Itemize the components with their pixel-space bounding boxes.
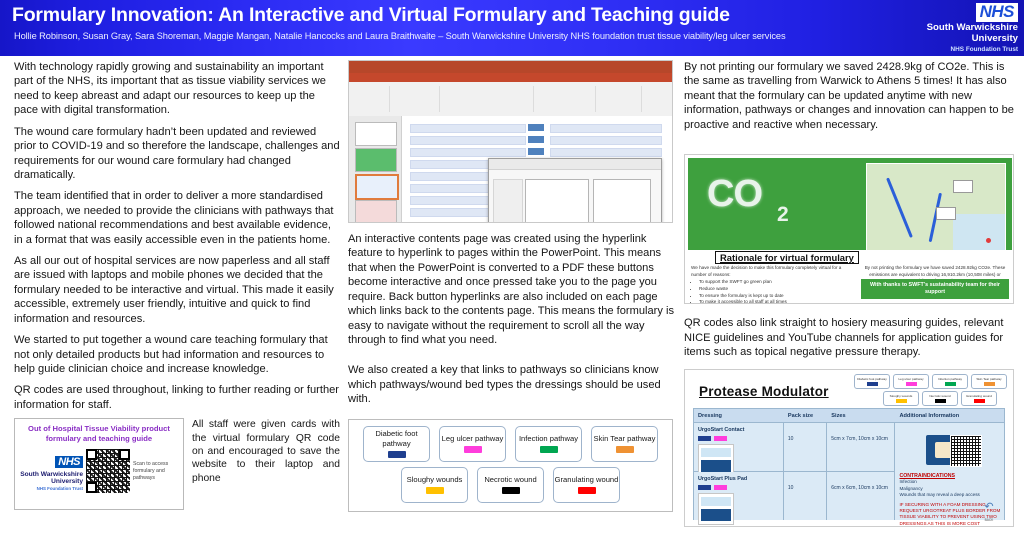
trust-name: South Warwickshire University <box>900 23 1018 44</box>
key-swatch-icon <box>714 485 727 490</box>
table-header-row: Dressing Pack size Sizes Additional Info… <box>694 409 1004 423</box>
rationale-bullet: Reduce waste <box>699 286 851 293</box>
key-item-sloughy[interactable]: Sloughy wounds <box>883 391 919 406</box>
key-label: Leg ulcer pathway <box>442 434 504 443</box>
key-item-granulating[interactable]: Granulating wound <box>553 467 620 503</box>
table-row: UrgoStart Plus Pad <box>694 472 783 521</box>
product-image-band <box>701 460 731 472</box>
rationale-title: Rationale for virtual formulary <box>715 251 859 264</box>
key-swatch-icon <box>714 436 727 441</box>
formulary-qr-card: Out of Hospital Tissue Viability product… <box>14 418 184 510</box>
pathway-key-box: Diabetic foot pathway Leg ulcer pathway … <box>348 419 673 512</box>
ppt-content-row <box>410 148 526 157</box>
pathway-key-row-2: Sloughy wounds Necrotic wound Granulatin… <box>355 467 666 503</box>
key-item-infection[interactable]: Infection pathway <box>932 374 968 389</box>
left-paragraph-1: With technology rapidly growing and sust… <box>14 60 340 118</box>
ppt-slide-thumbnail-pane[interactable] <box>349 116 402 222</box>
dialog-preview-pane <box>593 179 651 223</box>
table-column-additional-info: CONTRAINDICATIONS Infection Malignancy W… <box>895 423 1004 520</box>
trust-subtitle: NHS Foundation Trust <box>19 486 83 491</box>
key-item-necrotic[interactable]: Necrotic wound <box>477 467 544 503</box>
ppt-slide-thumbnail[interactable] <box>355 122 397 146</box>
dressing-pathway-swatches <box>698 436 779 441</box>
left-paragraph-5: We started to put together a wound care … <box>14 333 340 376</box>
key-label: Necrotic wound <box>484 475 536 484</box>
left-paragraph-2: The wound care formulary hadn’t been upd… <box>14 125 340 183</box>
left-paragraph-3: The team identified that in order to del… <box>14 189 340 247</box>
column-header-pack-size: Pack size <box>784 413 827 419</box>
qr-scan-instruction: Scan to access formulary and pathways <box>133 461 175 482</box>
column-header-sizes: Sizes <box>827 413 895 419</box>
key-item-diabetic-foot[interactable]: Diabetic foot pathway <box>363 426 430 462</box>
table-cell-pack-size: 10 <box>784 423 826 472</box>
dressing-name: UrgoStart Contact <box>698 427 779 433</box>
co2-rationale-panel: CO 2 Rationale for virtual formulary We … <box>684 154 1014 304</box>
left-paragraph-6: QR codes are used throughout, linking to… <box>14 383 340 412</box>
key-swatch-icon <box>578 487 596 494</box>
co2-subscript: 2 <box>777 203 789 227</box>
product-image-band <box>701 448 731 457</box>
poster-header: Formulary Innovation: An Interactive and… <box>0 0 1024 56</box>
qr-code-icon[interactable] <box>86 449 130 493</box>
middle-paragraph-2: We also created a key that links to path… <box>348 363 674 406</box>
key-label: Infection pathway <box>938 378 962 381</box>
powerpoint-screenshot <box>348 60 673 223</box>
ppt-slide-canvas <box>402 116 672 222</box>
product-image <box>698 493 734 525</box>
rationale-intro: We have made the decision to make this f… <box>691 265 851 278</box>
middle-column: An interactive contents page was created… <box>348 60 674 512</box>
sizes-value: 5cm x 7cm, 10cm x 10cm <box>831 436 888 442</box>
key-swatch-icon <box>906 382 917 386</box>
ppt-ribbon-group <box>537 86 596 112</box>
pathway-key-row-1: Diabetic foot pathway Leg ulcer pathway … <box>355 426 666 462</box>
key-label: Diabetic foot pathway <box>364 429 429 448</box>
qr-corner-icon <box>86 482 97 493</box>
key-swatch-icon <box>388 451 406 458</box>
ppt-ribbon-group <box>393 86 440 112</box>
nhs-logo: NHS <box>55 456 83 468</box>
key-label: Granulating wound <box>555 475 619 484</box>
key-item-diabetic-foot[interactable]: Diabetic foot pathway <box>854 374 890 389</box>
back-button-label: BACK <box>985 518 994 522</box>
key-swatch-icon <box>540 446 558 453</box>
ppt-content-row <box>410 124 526 133</box>
key-swatch-icon <box>616 446 634 453</box>
qr-card-body: NHS South Warwickshire University NHS Fo… <box>19 449 179 493</box>
key-item-sloughy[interactable]: Sloughy wounds <box>401 467 468 503</box>
key-swatch-icon <box>698 436 711 441</box>
ppt-slide-thumbnail[interactable] <box>355 174 399 200</box>
key-swatch-icon <box>698 485 711 490</box>
column-header-dressing: Dressing <box>694 413 784 419</box>
protease-table-title: Protease Modulator <box>699 384 829 399</box>
sizes-value: 6cm x 6cm, 10cm x 10cm <box>831 485 888 491</box>
key-label: Skin Tear pathway <box>594 434 656 443</box>
key-label: Necrotic wound <box>929 395 950 398</box>
dialog-link-type-list[interactable] <box>493 179 523 223</box>
edit-hyperlink-dialog[interactable] <box>488 158 662 223</box>
ppt-link-chip[interactable] <box>528 136 544 143</box>
key-label: Leg ulcer pathway <box>898 378 923 381</box>
dressing-pathway-swatches <box>698 485 779 490</box>
key-swatch-icon <box>984 382 995 386</box>
ppt-slide-thumbnail[interactable] <box>355 200 397 223</box>
table-row: UrgoStart Contact <box>694 423 783 472</box>
middle-paragraph-1: An interactive contents page was created… <box>348 232 674 347</box>
key-label: Granulating wound <box>966 395 992 398</box>
key-label: Sloughy wounds <box>890 395 913 398</box>
right-paragraph-2: QR codes also link straight to hosiery m… <box>684 316 1014 359</box>
map-callout-card <box>936 207 956 220</box>
map-pin-icon <box>986 238 991 243</box>
qr-card-logo-block: NHS South Warwickshire University NHS Fo… <box>19 452 83 491</box>
key-item-leg-ulcer[interactable]: Leg ulcer pathway <box>893 374 929 389</box>
key-swatch-icon <box>945 382 956 386</box>
key-swatch-icon <box>867 382 878 386</box>
key-swatch-icon <box>426 487 444 494</box>
key-swatch-icon <box>935 399 946 403</box>
additional-info-cell: CONTRAINDICATIONS Infection Malignancy W… <box>895 423 1004 520</box>
contraindication-item: Wounds that may reveal a deep access <box>899 492 1003 498</box>
key-item-necrotic[interactable]: Necrotic wound <box>922 391 958 406</box>
left-paragraph-4: As all our out of hospital services are … <box>14 254 340 326</box>
table-body: UrgoStart Contact UrgoStart Plus <box>694 423 1004 520</box>
back-arrow-icon: ↶ <box>984 501 993 513</box>
product-image-band <box>701 497 731 506</box>
dialog-title-bar <box>489 159 661 170</box>
ppt-link-chip[interactable] <box>528 148 544 155</box>
qr-card-row: Out of Hospital Tissue Viability product… <box>14 418 340 510</box>
column-header-additional-info: Additional Information <box>895 413 1004 419</box>
co2-label: CO <box>707 173 762 216</box>
map-callout-card <box>953 180 973 193</box>
table-column-dressing: UrgoStart Contact UrgoStart Plus <box>694 423 784 520</box>
key-swatch-icon <box>974 399 985 403</box>
nhs-logo-block: NHS South Warwickshire University NHS Fo… <box>900 3 1018 54</box>
protease-pathway-key: Diabetic foot pathway Leg ulcer pathway … <box>847 374 1007 406</box>
key-label: Infection pathway <box>519 434 578 443</box>
ppt-slide-thumbnail[interactable] <box>355 148 397 172</box>
ppt-ribbon-group <box>353 86 390 112</box>
rationale-bullet: To ensure the formulary is kept up to da… <box>699 293 851 300</box>
protease-key-row-2: Sloughy wounds Necrotic wound Granulatin… <box>847 391 997 406</box>
back-button[interactable]: ↶ BACK <box>980 502 998 516</box>
protease-modulator-panel: Protease Modulator Diabetic foot pathway… <box>684 369 1014 527</box>
left-column: With technology rapidly growing and sust… <box>14 60 340 510</box>
qr-side-text: All staff were given cards with the virt… <box>192 418 340 485</box>
dialog-target-list[interactable] <box>525 179 589 223</box>
ppt-ribbon-group <box>599 86 642 112</box>
nhs-logo: NHS <box>976 3 1018 22</box>
poster-canvas: Formulary Innovation: An Interactive and… <box>0 0 1024 534</box>
key-label: Diabetic foot pathway <box>857 378 887 381</box>
table-column-pack-size: 10 10 <box>784 423 827 520</box>
product-image-band <box>701 509 731 521</box>
ppt-ribbon-group <box>443 86 534 112</box>
table-cell-sizes: 5cm x 7cm, 10cm x 10cm <box>827 423 894 472</box>
dressing-name: UrgoStart Plus Pad <box>698 476 779 482</box>
ppt-title-bar <box>349 61 672 73</box>
ppt-content-row <box>550 136 662 145</box>
rationale-bullet: To support the SWFT go green plan <box>699 279 851 286</box>
ppt-content-row <box>410 136 526 145</box>
rationale-bullet-list: To support the SWFT go green plan Reduce… <box>691 279 851 304</box>
protease-dressing-table: Dressing Pack size Sizes Additional Info… <box>693 408 1005 520</box>
trust-subtitle: NHS Foundation Trust <box>900 46 1018 54</box>
right-column: By not printing our formulary we saved 2… <box>684 60 1014 527</box>
key-item-granulating[interactable]: Granulating wound <box>961 391 997 406</box>
key-swatch-icon <box>896 399 907 403</box>
key-label: Sloughy wounds <box>407 475 463 484</box>
rationale-bullet: To make it accessible to all staff at al… <box>699 299 851 304</box>
ppt-ribbon <box>349 82 672 117</box>
route-map-image <box>866 163 1006 251</box>
ppt-ribbon-tabs <box>349 73 672 82</box>
qr-code-icon[interactable] <box>950 435 982 467</box>
author-list: Hollie Robinson, Susan Gray, Sara Shorem… <box>14 31 786 41</box>
pack-size-value: 10 <box>788 485 794 491</box>
key-item-leg-ulcer[interactable]: Leg ulcer pathway <box>439 426 506 462</box>
key-label: Skin Tear pathway <box>976 378 1001 381</box>
pack-size-value: 10 <box>788 436 794 442</box>
table-column-sizes: 5cm x 7cm, 10cm x 10cm 6cm x 6cm, 10cm x… <box>827 423 895 520</box>
table-cell-pack-size: 10 <box>784 472 826 521</box>
protease-key-row-1: Diabetic foot pathway Leg ulcer pathway … <box>847 374 1007 389</box>
key-item-skin-tear[interactable]: Skin Tear pathway <box>591 426 658 462</box>
key-swatch-icon <box>464 446 482 453</box>
qr-card-title: Out of Hospital Tissue Viability product… <box>19 424 179 443</box>
right-paragraph-1: By not printing our formulary we saved 2… <box>684 60 1014 132</box>
table-cell-sizes: 6cm x 6cm, 10cm x 10cm <box>827 472 894 521</box>
key-item-infection[interactable]: Infection pathway <box>515 426 582 462</box>
ppt-link-chip[interactable] <box>528 124 544 131</box>
sustainability-thanks-banner: With thanks to SWFT’s sustainability tea… <box>861 279 1009 299</box>
key-swatch-icon <box>502 487 520 494</box>
trust-name: South Warwickshire University <box>19 471 83 486</box>
page-title: Formulary Innovation: An Interactive and… <box>12 4 730 27</box>
ppt-content-row <box>550 124 662 133</box>
ppt-content-row <box>550 148 662 157</box>
key-item-skin-tear[interactable]: Skin Tear pathway <box>971 374 1007 389</box>
rationale-body: We have made the decision to make this f… <box>691 265 851 304</box>
